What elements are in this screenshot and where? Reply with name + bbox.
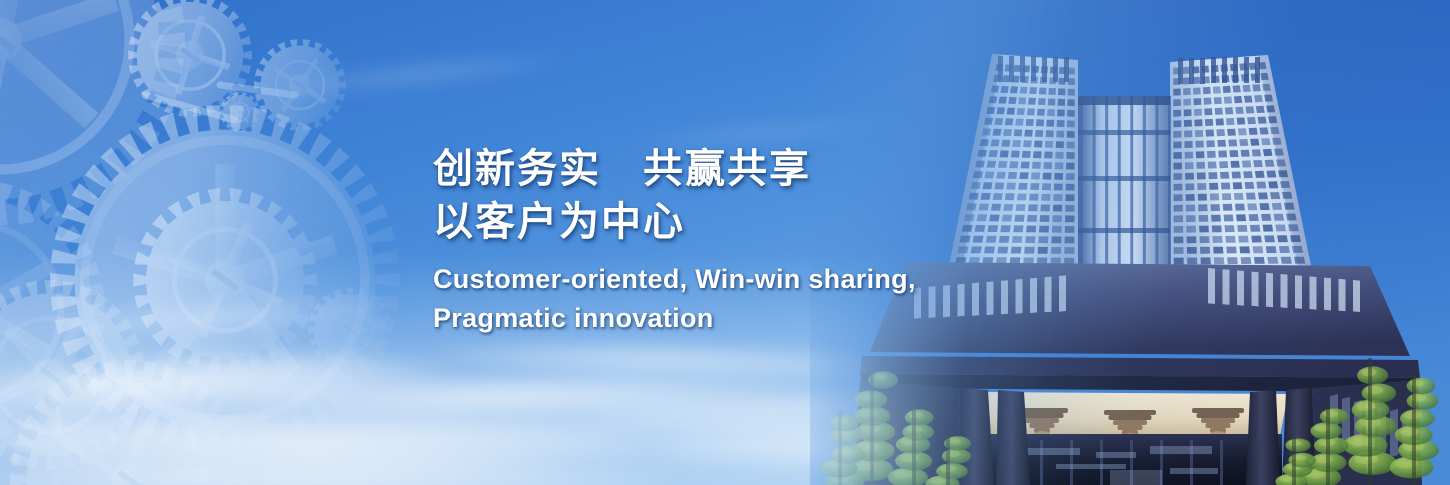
headline-chinese-line2: 以客户为中心 (433, 196, 953, 249)
corporate-hero-banner: 创新务实 共赢共享 以客户为中心 Customer-oriented, Win-… (0, 0, 1450, 485)
headline-chinese-line1: 创新务实 共赢共享 (433, 143, 953, 196)
gear-cluster-icon (0, 0, 500, 485)
hero-copy: 创新务实 共赢共享 以客户为中心 Customer-oriented, Win-… (433, 143, 953, 338)
subhead-english-line1: Customer-oriented, Win-win sharing, (433, 260, 953, 299)
subhead-english-line2: Pragmatic innovation (433, 299, 953, 338)
